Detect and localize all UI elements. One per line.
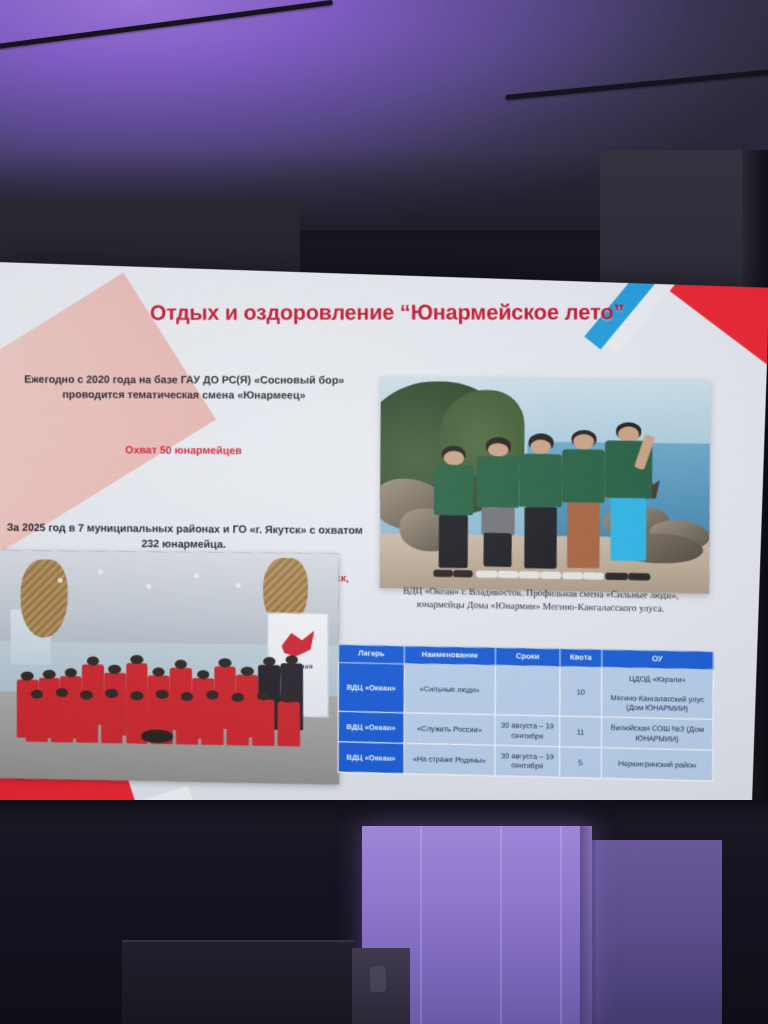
presentation-slide: Отдых и оздоровление “Юнармейское лето” … [0, 262, 768, 864]
cell-camp: ВДЦ «Океан» [338, 712, 404, 744]
photo-scene: Отдых и оздоровление “Юнармейское лето” … [0, 0, 768, 1024]
table-header-camp: Лагерь [338, 644, 404, 663]
cell-quota: 11 [560, 716, 602, 747]
curtain-fold [420, 826, 422, 1024]
cell-quota: 10 [560, 667, 602, 717]
cell-camp: ВДЦ «Океан» [338, 663, 404, 713]
table-header-dates: Сроки [495, 647, 560, 666]
cell-name: «Сильные люди» [404, 664, 495, 715]
table-header-name: Наименование [404, 646, 495, 666]
cell-name: «Служить России» [404, 713, 495, 745]
cell-quota: 5 [559, 747, 601, 778]
camp-shifts-table: Лагерь Наименование Сроки Квота ОУ ВДЦ «… [338, 644, 714, 781]
photo-group-yunarmiya: ЮНАРМИЯ [0, 550, 339, 784]
cell-ou: Нерюнгринский район [601, 748, 713, 781]
curtain-shadow [580, 826, 596, 1024]
photo-person [432, 445, 475, 577]
cell-name: «На страже Родины» [404, 743, 495, 775]
table-header-quota: Квота [560, 649, 602, 668]
table-row: ВДЦ «Океан» «Сильные люди» 10 ЦДОД «Кэрэ… [338, 663, 713, 720]
photo-person [560, 430, 607, 580]
photo-hall-lamp [20, 560, 68, 638]
wall-purple-right [592, 840, 722, 1024]
equipment-handle-icon [370, 966, 386, 992]
photo-beach-okean [380, 377, 711, 594]
cell-dates: 30 августа – 19 сентября [495, 745, 560, 777]
photo-ceiling-spotlight [235, 582, 240, 587]
camp-shifts-table-wrapper: Лагерь Наименование Сроки Квота ОУ ВДЦ «… [338, 644, 713, 781]
photo-person [603, 422, 654, 580]
photo-person [517, 433, 564, 578]
projection-screen: Отдых и оздоровление “Юнармейское лето” … [0, 262, 768, 864]
photo-ceiling-spotlight [146, 584, 151, 589]
equipment-panel [122, 940, 354, 1024]
curtain-fold [500, 826, 502, 1024]
decor-red-corner-triangle [655, 282, 768, 366]
paragraph-coverage-2025: За 2025 год в 7 муниципальных районах и … [2, 520, 367, 554]
table-header-ou: ОУ [602, 649, 714, 669]
paragraph-coverage-50: Охват 50 юнармейцев [2, 443, 367, 460]
cell-camp: ВДЦ «Океан» [338, 742, 404, 774]
photo-ceiling-spotlight [194, 573, 199, 578]
cell-dates [495, 666, 560, 717]
photo-crowd [10, 642, 325, 748]
slide-title: Отдых и оздоровление “Юнармейское лето” [145, 301, 629, 326]
photo-beach-caption: ВДЦ «Океан» г. Владивосток. Профильная с… [378, 584, 703, 617]
cell-ou: Вилюйская СОШ №3 (Дом ЮНАРМИИ) [601, 717, 713, 750]
cell-dates: 30 августа – 19 сентября [495, 715, 560, 747]
curtain-fold [560, 826, 562, 1024]
paragraph-intro: Ежегодно с 2020 года на базе ГАУ ДО РС(Я… [2, 373, 367, 405]
photo-floor-object [142, 730, 173, 743]
cell-ou: ЦДОД «Кэрэли» Мегино-Кангаласский улус (… [602, 668, 714, 720]
photo-person [474, 437, 521, 578]
